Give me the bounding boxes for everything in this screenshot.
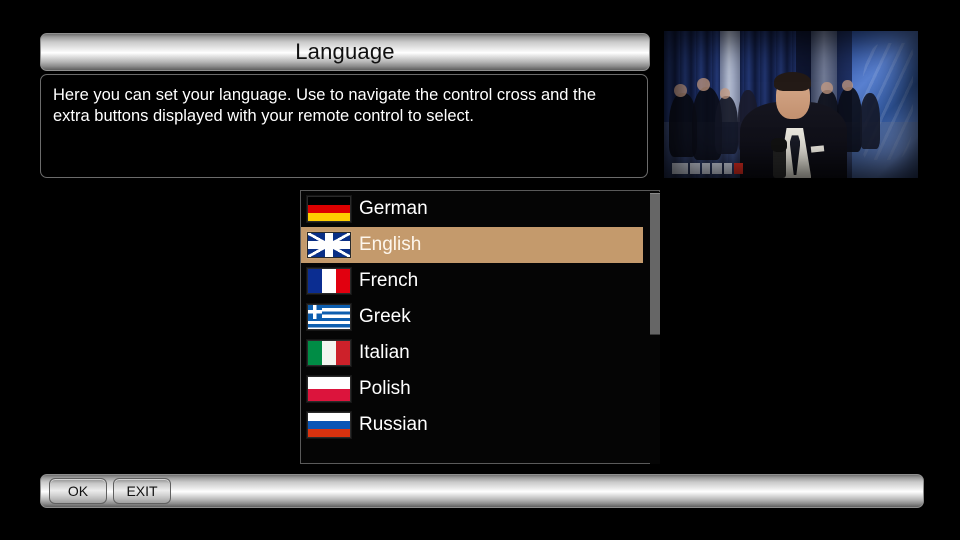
flag-germany-icon (307, 196, 351, 222)
flag-greece-icon (307, 304, 351, 330)
page-title: Language (295, 39, 394, 65)
list-item-french[interactable]: French (301, 263, 645, 299)
description-panel: Here you can set your language. Use to n… (40, 74, 648, 178)
flag-united-kingdom-icon (307, 232, 351, 258)
live-tv-preview[interactable] (664, 31, 918, 178)
language-list-panel[interactable]: German English French Greek Italian Poli (300, 190, 660, 464)
scrollbar-track[interactable] (650, 192, 660, 464)
softkey-bar: OK EXIT (40, 474, 924, 508)
list-item-polish[interactable]: Polish (301, 371, 645, 407)
flag-italy-icon (307, 340, 351, 366)
description-text: Here you can set your language. Use to n… (53, 85, 635, 127)
ok-button-label: OK (68, 483, 88, 499)
language-label: Polish (359, 378, 411, 400)
list-item-german[interactable]: German (301, 191, 645, 227)
exit-button-label: EXIT (126, 483, 157, 499)
osd-screen: Language Here you can set your language.… (0, 0, 960, 540)
flag-france-icon (307, 268, 351, 294)
language-list: German English French Greek Italian Poli (301, 191, 645, 443)
list-item-russian[interactable]: Russian (301, 407, 645, 443)
list-item-english[interactable]: English (301, 227, 643, 263)
exit-button[interactable]: EXIT (113, 478, 171, 504)
language-label: Greek (359, 306, 411, 328)
title-bar: Language (40, 33, 650, 71)
language-label: German (359, 198, 428, 220)
language-label: English (359, 234, 421, 256)
list-item-italian[interactable]: Italian (301, 335, 645, 371)
language-label: French (359, 270, 418, 292)
flag-poland-icon (307, 376, 351, 402)
language-label: Russian (359, 414, 428, 436)
preview-vignette (664, 31, 918, 178)
list-item-greek[interactable]: Greek (301, 299, 645, 335)
ok-button[interactable]: OK (49, 478, 107, 504)
language-label: Italian (359, 342, 410, 364)
flag-russia-icon (307, 412, 351, 438)
scrollbar-thumb[interactable] (650, 193, 660, 335)
